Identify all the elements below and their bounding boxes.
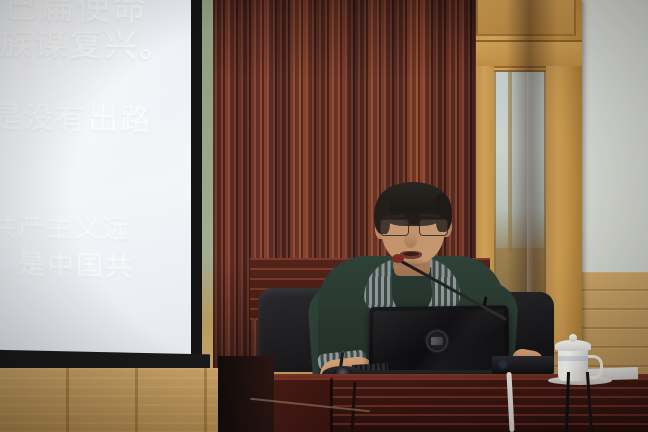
presenter-mouth-inner [403, 252, 419, 256]
teacup-lid-knob [569, 334, 577, 342]
slide-line-4: ，共产主义远 [0, 206, 130, 246]
dell-logo-icon [426, 330, 448, 352]
lecture-hall-photo: 为己扁使命 民族谋复兴。 族是没有出路 ，共产主义远 想，是中国共 [0, 0, 648, 432]
projection-screen: 为己扁使命 民族谋复兴。 族是没有出路 ，共产主义远 想，是中国共 [0, 0, 191, 368]
teacup-decor-band [558, 356, 588, 361]
eyeglass-bridge [407, 224, 419, 226]
slide-line-5: 想，是中国共 [0, 242, 134, 284]
teacup-body [558, 348, 588, 381]
control-box-led-icon [500, 362, 506, 368]
laptop[interactable] [369, 305, 509, 378]
podium-corner-edge [330, 378, 333, 432]
left-wall-wood-wainscot [0, 368, 220, 432]
eyeglass-lens-right [419, 219, 448, 236]
slide-line-2: 民族谋复兴。 [0, 16, 174, 68]
right-wall-panel [580, 0, 648, 272]
presenter-nose [404, 232, 417, 248]
microphone-head-icon [392, 254, 404, 263]
slide-line-3: 族是没有出路 [0, 92, 152, 140]
podium-shadow-left [218, 356, 274, 432]
